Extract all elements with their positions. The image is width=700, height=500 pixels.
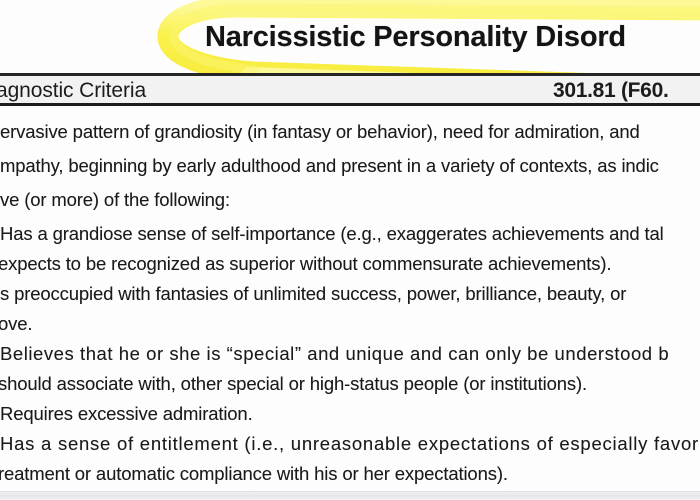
- criteria-heading: agnostic Criteria: [0, 79, 146, 103]
- lead-line: ervasive pattern of grandiosity (in fant…: [0, 118, 700, 145]
- criterion-line: expects to be recognized as superior wit…: [0, 250, 700, 277]
- page-title: Narcissistic Personality Disord: [205, 21, 700, 54]
- lead-line: ve (or more) of the following:: [0, 186, 700, 213]
- criterion-line: reatment or automatic compliance with hi…: [0, 460, 700, 487]
- criteria-body: ervasive pattern of grandiosity (in fant…: [0, 118, 700, 490]
- screenshot-root: Narcissistic Personality Disord agnostic…: [0, 0, 700, 500]
- bottom-chrome-strip: [0, 491, 700, 500]
- document-page: Narcissistic Personality Disord agnostic…: [0, 0, 700, 491]
- criterion-line: Requires excessive admiration.: [0, 400, 700, 427]
- criteria-code: 301.81 (F60.: [553, 79, 668, 103]
- criterion-line: Has a grandiose sense of self-importance…: [0, 220, 700, 247]
- criterion-line: Has a sense of entitlement (i.e., unreas…: [0, 430, 700, 457]
- criterion-line: s preoccupied with fantasies of unlimite…: [0, 280, 700, 307]
- lead-line: mpathy, beginning by early adulthood and…: [0, 152, 700, 179]
- criterion-line: ove.: [0, 310, 700, 337]
- criterion-line: should associate with, other special or …: [0, 370, 700, 397]
- criterion-line: Believes that he or she is “special” and…: [0, 340, 700, 367]
